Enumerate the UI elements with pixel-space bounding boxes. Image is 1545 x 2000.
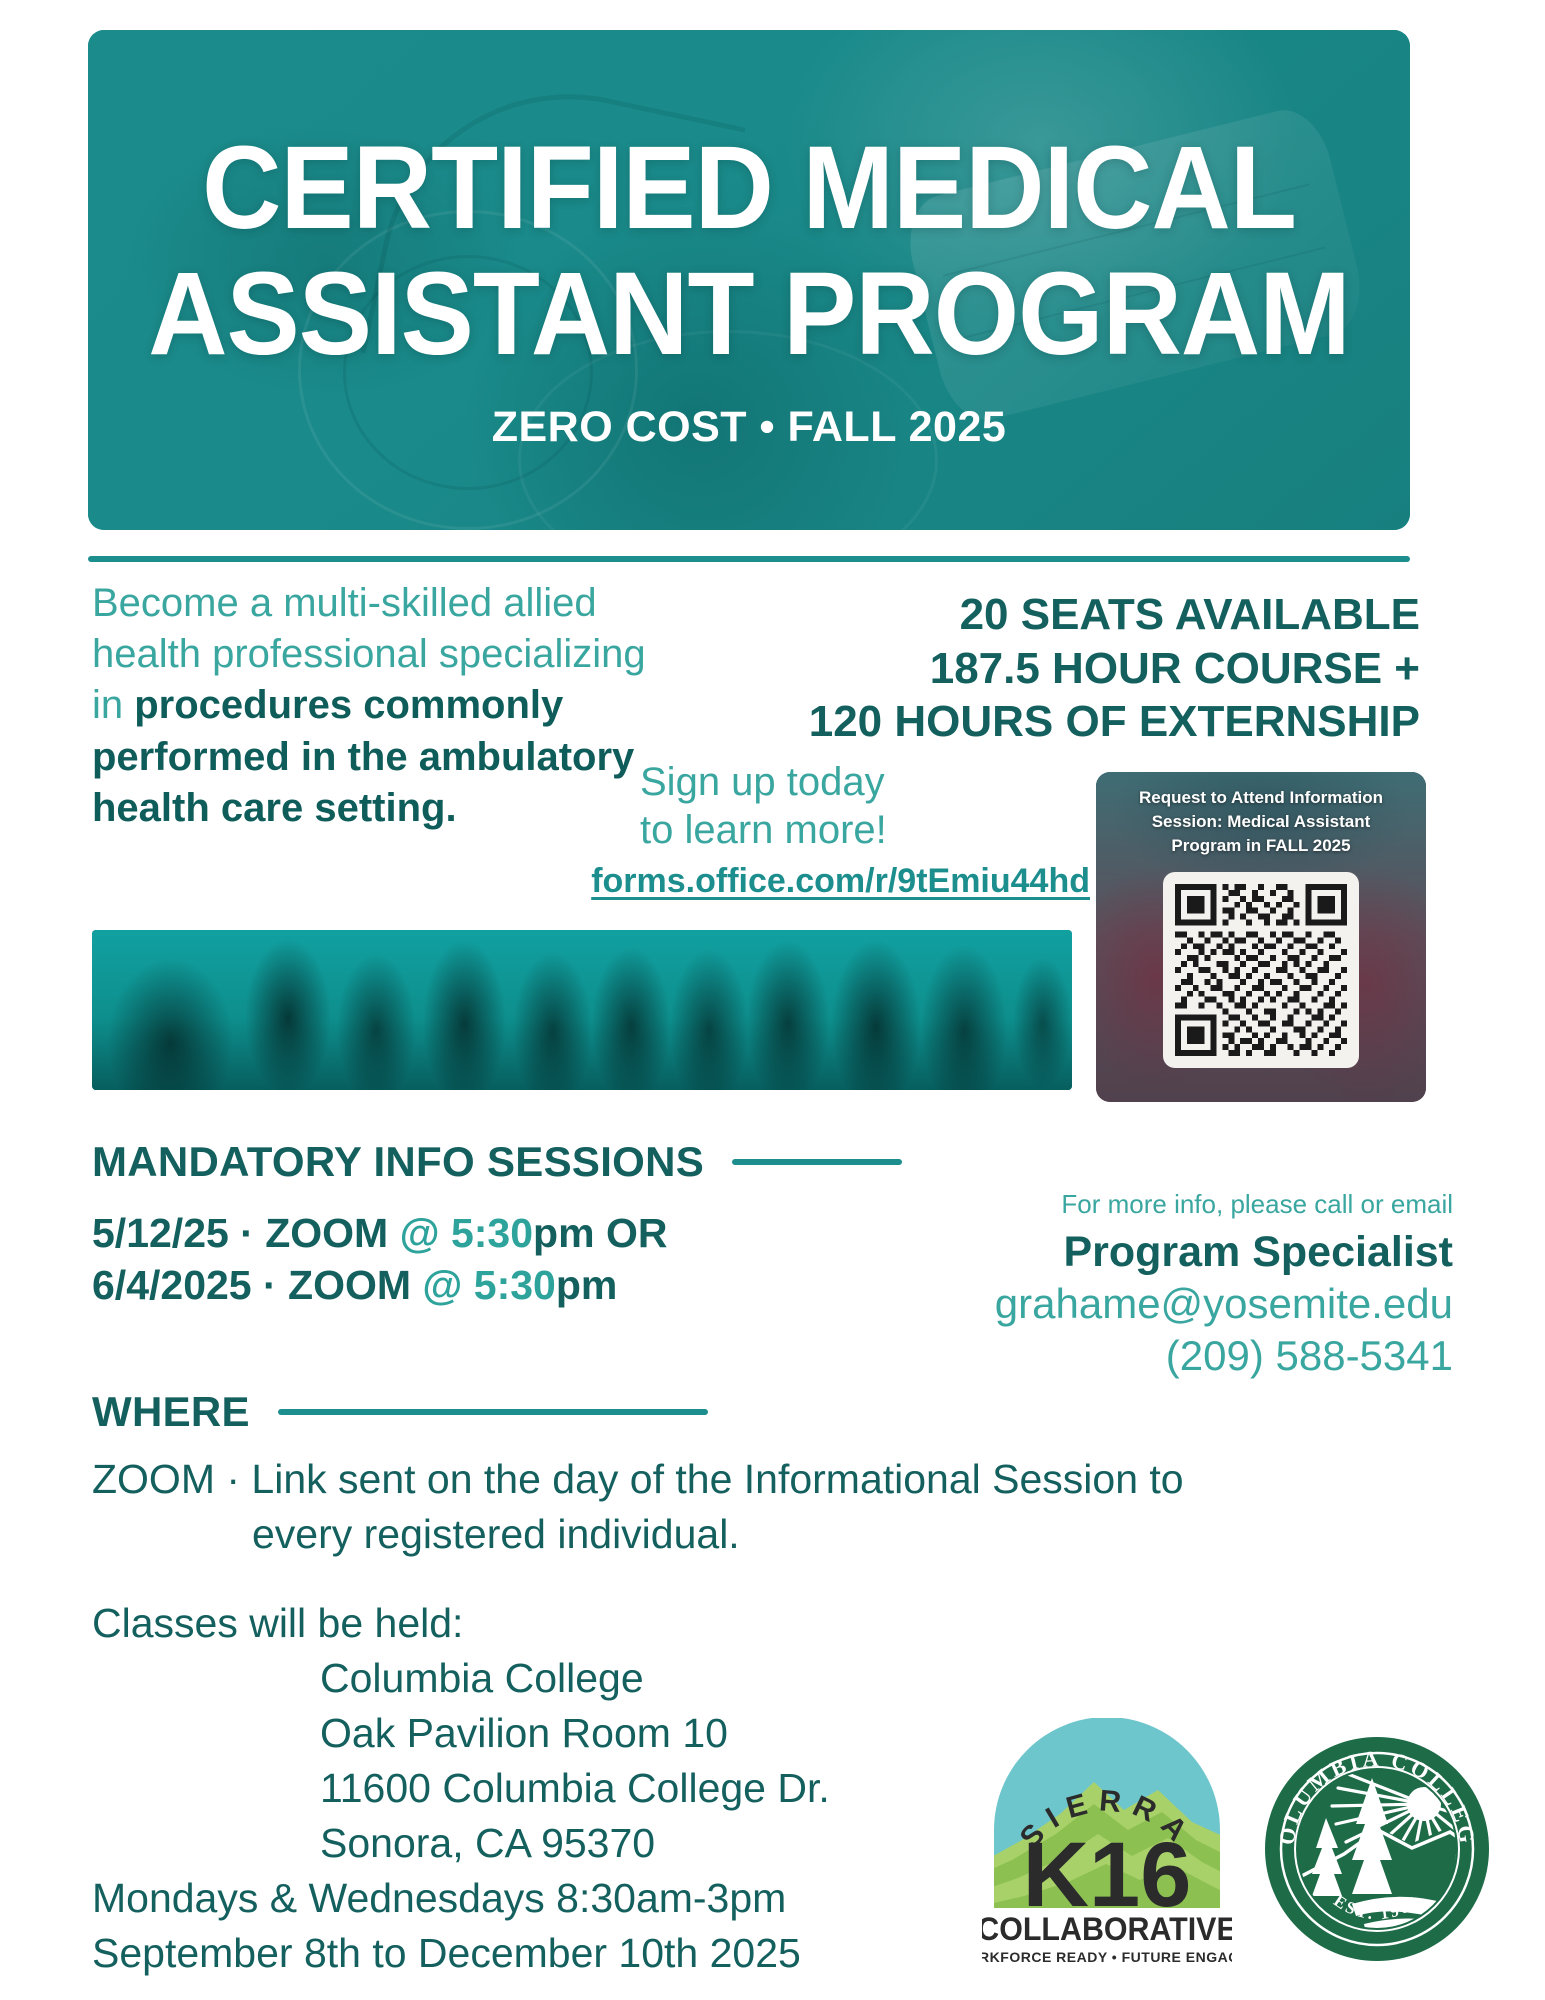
cohort-photo-image (92, 930, 1072, 1090)
stat-externship-hours: 120 HOURS OF EXTERNSHIP (700, 695, 1420, 749)
header-text-group: CERTIFIED MEDICAL ASSISTANT PROGRAM ZERO… (88, 30, 1410, 530)
where-line-1: ZOOM · Link sent on the day of the Infor… (92, 1452, 1352, 1507)
signup-line-2: to learn more! (640, 806, 1090, 854)
session-1-suffix: pm OR (533, 1210, 667, 1256)
address-line-1: Columbia College (92, 1651, 1092, 1706)
signup-form-link[interactable]: forms.office.com/r/9tEmiu44hd (480, 862, 1090, 901)
page-title-line1: CERTIFIED MEDICAL (202, 126, 1296, 251)
info-sessions-heading-label: MANDATORY INFO SESSIONS (92, 1138, 704, 1186)
qr-code-card[interactable]: Request to Attend Information Session: M… (1096, 772, 1426, 1102)
where-body: ZOOM · Link sent on the day of the Infor… (92, 1452, 1352, 1562)
intro-bold-text: procedures commonly performed in the amb… (92, 683, 634, 829)
cohort-photo (92, 930, 1072, 1090)
schedule-days: Mondays & Wednesdays 8:30am-3pm (92, 1871, 1092, 1926)
signup-line-1: Sign up today (640, 758, 1090, 806)
qr-caption-line-1: Request to Attend Information (1110, 786, 1412, 810)
qr-caption: Request to Attend Information Session: M… (1110, 786, 1412, 858)
session-row-2: 6/4/2025 · ZOOM @ 5:30pm (92, 1260, 852, 1312)
session-2-date: 6/4/2025 · ZOOM (92, 1262, 422, 1308)
address-line-4: Sonora, CA 95370 (92, 1816, 1092, 1871)
qr-caption-line-2: Session: Medical Assistant (1110, 810, 1412, 834)
stats-block: 20 SEATS AVAILABLE 187.5 HOUR COURSE + 1… (700, 588, 1420, 749)
session-2-suffix: pm (556, 1262, 618, 1308)
intro-paragraph: Become a multi-skilled allied health pro… (92, 578, 682, 834)
session-1-time: @ 5:30 (400, 1210, 533, 1256)
page-title-line2: ASSISTANT PROGRAM (148, 252, 1350, 377)
contact-phone-number[interactable]: (209) 588-5341 (813, 1330, 1453, 1382)
address-line-2: Oak Pavilion Room 10 (92, 1706, 1092, 1761)
session-1-date: 5/12/25 · ZOOM (92, 1210, 400, 1256)
qr-code-image[interactable] (1163, 872, 1359, 1068)
k16-sub-text: COLLABORATIVE (982, 1911, 1232, 1947)
contact-intro-text: For more info, please call or email (813, 1188, 1453, 1222)
classes-block: Classes will be held: Columbia College O… (92, 1596, 1092, 1981)
contact-email-link[interactable]: grahame@yosemite.edu (813, 1278, 1453, 1330)
stat-course-hours: 187.5 HOUR COURSE + (700, 642, 1420, 696)
qr-caption-line-3: Program in FALL 2025 (1110, 834, 1412, 858)
header-divider-rule (88, 556, 1410, 562)
where-heading-rule (278, 1409, 708, 1415)
intro-period: . (445, 786, 456, 830)
signup-block: Sign up today to learn more! (640, 758, 1090, 854)
contact-block: For more info, please call or email Prog… (813, 1188, 1453, 1382)
stat-seats-available: 20 SEATS AVAILABLE (700, 588, 1420, 642)
info-sessions-heading-rule (732, 1159, 902, 1165)
session-2-time: @ 5:30 (422, 1262, 555, 1308)
page-subtitle: ZERO COST • FALL 2025 (492, 403, 1007, 452)
header-banner: CERTIFIED MEDICAL ASSISTANT PROGRAM ZERO… (88, 30, 1410, 530)
contact-role-title: Program Specialist (813, 1226, 1453, 1278)
session-dates-list: 5/12/25 · ZOOM @ 5:30pm OR 6/4/2025 · ZO… (92, 1208, 852, 1311)
columbia-college-seal-logo: COLUMBIA COLLEGE EST. 1968 (1252, 1718, 1502, 1980)
k16-tagline-text: WORKFORCE READY • FUTURE ENGAGED (982, 1949, 1232, 1965)
classes-intro-text: Classes will be held: (92, 1596, 1092, 1651)
where-line-2: every registered individual. (92, 1507, 1352, 1562)
session-row-1: 5/12/25 · ZOOM @ 5:30pm OR (92, 1208, 852, 1260)
info-sessions-heading: MANDATORY INFO SESSIONS (92, 1138, 902, 1186)
sierra-k16-collaborative-logo: SIERRA K16 COLLABORATIVE WORKFORCE READY… (982, 1718, 1232, 1980)
schedule-date-range: September 8th to December 10th 2025 (92, 1926, 1092, 1981)
where-heading: WHERE (92, 1388, 708, 1436)
address-line-3: 11600 Columbia College Dr. (92, 1761, 1092, 1816)
where-heading-label: WHERE (92, 1388, 250, 1436)
